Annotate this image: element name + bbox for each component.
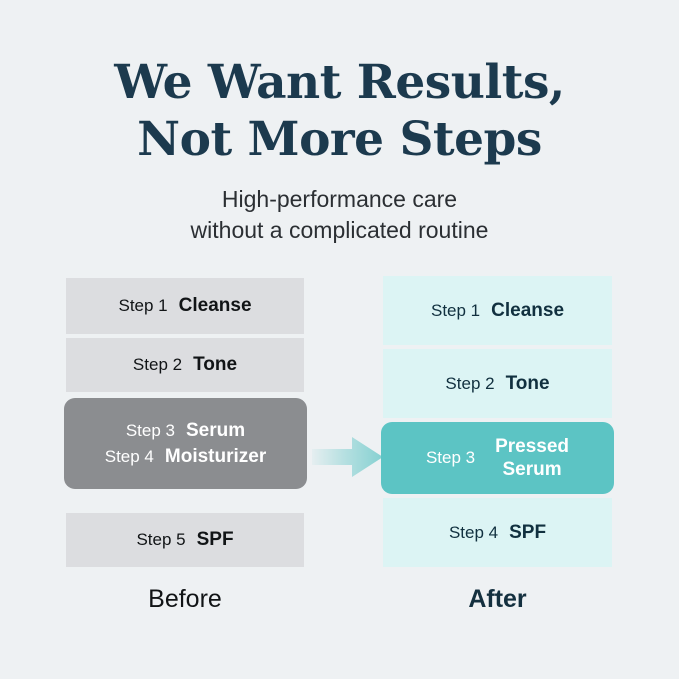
before-step-3-name: Serum	[186, 420, 245, 442]
before-step-3-label: Step 3	[126, 421, 175, 441]
after-step-3-label: Step 3	[426, 448, 475, 468]
before-step-row-2: Step 2 Tone	[66, 338, 304, 392]
after-caption: After	[383, 585, 612, 614]
before-step-1-label: Step 1	[118, 296, 167, 316]
before-step-row-4: Step 4 Moisturizer	[105, 446, 267, 468]
before-caption: Before	[66, 585, 304, 614]
before-merged-steps-box: Step 3 Serum Step 4 Moisturizer	[64, 398, 307, 489]
after-step-4-name: SPF	[509, 522, 546, 544]
after-step-4-label: Step 4	[449, 523, 498, 543]
after-step-1-label: Step 1	[431, 301, 480, 321]
page-subtitle: High-performance care without a complica…	[0, 184, 679, 246]
before-step-row-1: Step 1 Cleanse	[66, 278, 304, 334]
subheading-line-2: without a complicated routine	[0, 215, 679, 246]
before-step-2-label: Step 2	[133, 355, 182, 375]
before-step-5-label: Step 5	[136, 530, 185, 550]
before-step-row-5: Step 5 SPF	[66, 513, 304, 567]
heading-block: We Want Results, Not More Steps High-per…	[0, 54, 679, 246]
before-step-4-label: Step 4	[105, 447, 154, 467]
before-step-5-name: SPF	[197, 529, 234, 551]
after-step-row-1: Step 1 Cleanse	[383, 276, 612, 345]
infographic-page: We Want Results, Not More Steps High-per…	[0, 0, 679, 679]
after-step-1-name: Cleanse	[491, 300, 564, 322]
arrow-right-icon	[312, 434, 384, 480]
before-step-4-name: Moisturizer	[165, 446, 266, 468]
headline-line-1: We Want Results,	[0, 54, 679, 111]
before-step-2-name: Tone	[193, 354, 237, 376]
headline-line-2: Not More Steps	[0, 111, 679, 168]
before-step-1-name: Cleanse	[179, 295, 252, 317]
after-step-row-2: Step 2 Tone	[383, 349, 612, 418]
after-step-2-name: Tone	[506, 373, 550, 395]
after-highlighted-step-box: Step 3 Pressed Serum	[381, 422, 614, 494]
subheading-line-1: High-performance care	[0, 184, 679, 215]
after-step-row-4: Step 4 SPF	[383, 498, 612, 567]
page-title: We Want Results, Not More Steps	[0, 54, 679, 168]
before-step-row-3: Step 3 Serum	[126, 420, 245, 442]
after-step-2-label: Step 2	[445, 374, 494, 394]
after-step-3-name: Pressed Serum	[495, 435, 569, 481]
